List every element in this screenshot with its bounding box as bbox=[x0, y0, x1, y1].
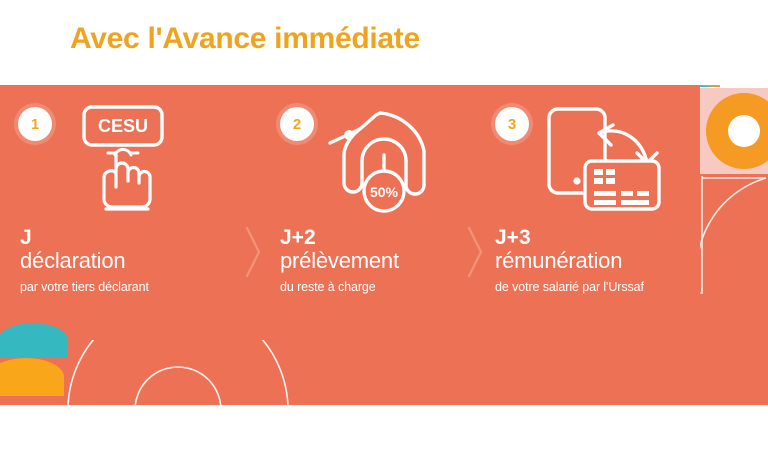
step-3-main-label: rémunération bbox=[495, 249, 700, 274]
step-3: 3 bbox=[495, 85, 700, 405]
step-2-day: J+2 bbox=[280, 227, 495, 248]
svg-text:CESU: CESU bbox=[98, 116, 148, 136]
step-1-day: J bbox=[20, 227, 245, 248]
hand-clicking-cesu-button-icon: CESU bbox=[68, 103, 178, 218]
step-1-sub-label: par votre tiers déclarant bbox=[20, 280, 245, 294]
right-white-arc-outline bbox=[700, 176, 768, 296]
step-2-text: J+2 prélèvement du reste à charge bbox=[280, 227, 495, 294]
hand-holding-coin-icon: 50% bbox=[318, 103, 443, 218]
infographic-canvas: Avec l'Avance immédiate bbox=[0, 0, 768, 451]
step-3-day: J+3 bbox=[495, 227, 700, 248]
step-3-sub-label: de votre salarié par l'Urssaf bbox=[495, 280, 700, 294]
steps-container: 1 CESU J déclaration bbox=[0, 85, 700, 405]
step-2-number-badge: 2 bbox=[280, 107, 314, 141]
step-2: 2 50% J+2 prélèvement du res bbox=[280, 85, 495, 405]
step-3-text: J+3 rémunération de votre salarié par l'… bbox=[495, 227, 700, 294]
step-2-main-label: prélèvement bbox=[280, 249, 495, 274]
step-1-main-label: déclaration bbox=[20, 249, 245, 274]
step-1: 1 CESU J déclaration bbox=[18, 85, 243, 405]
svg-text:50%: 50% bbox=[370, 184, 399, 200]
step-2-sub-label: du reste à charge bbox=[280, 280, 495, 294]
header-bar: Avec l'Avance immédiate bbox=[0, 0, 768, 85]
smartphone-and-credit-card-transfer-icon bbox=[537, 103, 667, 218]
step-3-number-badge: 3 bbox=[495, 107, 529, 141]
bottom-white-strip bbox=[0, 405, 768, 451]
step-1-number-badge: 1 bbox=[18, 107, 52, 141]
page-title: Avec l'Avance immédiate bbox=[70, 22, 420, 56]
step-1-text: J déclaration par votre tiers déclarant bbox=[20, 227, 245, 294]
